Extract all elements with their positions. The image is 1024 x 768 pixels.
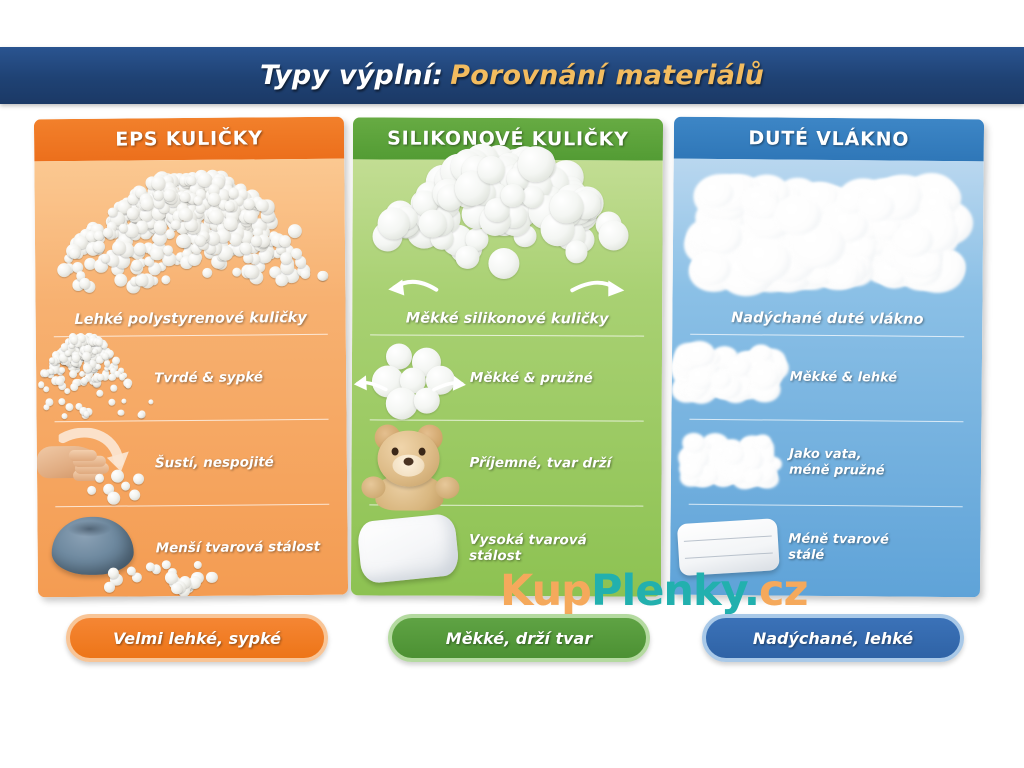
- dute-vlakno-feature-3: Méně tvarové stálé: [670, 505, 981, 592]
- column-dute-vlakno-title: DUTÉ VLÁKNO: [674, 117, 984, 162]
- hand-with-beads-icon: [37, 425, 156, 502]
- dute-vlakno-feature-1: Měkké & lehké: [671, 335, 982, 422]
- summary-pill-dute-vlakno[interactable]: Nadýchané, lehké: [702, 614, 964, 662]
- silikonove-feature-2: Příjemné, tvar drží: [351, 420, 661, 505]
- silikonove-feature-1: Měkké & pružné: [352, 335, 662, 420]
- fibre-cloud-small-icon: [671, 339, 790, 416]
- silikonove-hero-caption: Měkké silikonové kuličky: [352, 310, 662, 327]
- dute-vlakno-feature-2-label: Jako vata, méně pružné: [789, 447, 891, 480]
- beads-small-pile-icon: [36, 340, 155, 417]
- silikonove-feature-3: Vysoká tvarová stálost: [351, 505, 661, 590]
- silikonove-feature-2-label: Příjemné, tvar drží: [470, 455, 618, 472]
- eps-feature-3-label: Menší tvarová stálost: [156, 539, 327, 556]
- header-banner: Typy výplní:Porovnání materiálů: [0, 47, 1024, 104]
- comparison-columns: EPS KULIČKY Lehké polystyrenové kuličky …: [0, 118, 1024, 598]
- eps-feature-3: Menší tvarová stálost: [37, 505, 348, 592]
- column-eps-kulicky: EPS KULIČKY Lehké polystyrenové kuličky …: [34, 117, 348, 598]
- stretch-arrows-icon: [352, 339, 470, 416]
- summary-pills: Velmi lehké, sypké Měkké, drží tvar Nadý…: [0, 614, 1024, 674]
- column-dute-vlakno: DUTÉ VLÁKNO Nadýchané duté vlákno Měkké …: [670, 117, 984, 598]
- page-title-secondary: Porovnání materiálů: [450, 60, 764, 91]
- expand-arrows-icon: [358, 263, 658, 304]
- pompoms-with-arrows-icon: [352, 339, 470, 416]
- pillow-icon: [351, 509, 469, 586]
- cotton-wool-icon: [671, 424, 790, 501]
- hollow-fibre-cloud-icon: [687, 173, 970, 299]
- eps-beads-pile-icon: [56, 183, 325, 303]
- eps-feature-1-label: Tvrdé & sypké: [154, 369, 269, 386]
- eps-feature-2: Šustí, nespojité: [37, 420, 348, 507]
- dute-vlakno-feature-1-label: Měkké & lehké: [790, 370, 903, 387]
- dute-vlakno-feature-3-label: Méně tvarové stálé: [788, 532, 895, 565]
- summary-pill-eps[interactable]: Velmi lehké, sypké: [66, 614, 328, 662]
- eps-hero-caption: Lehké polystyrenové kuličky: [36, 310, 346, 329]
- column-silikonove-kulicky: SILIKONOVÉ KULIČKY Měkké silikonové kuli…: [351, 117, 663, 596]
- infographic-page: Typy výplní:Porovnání materiálů EPS KULI…: [0, 0, 1024, 768]
- dute-vlakno-feature-2: Jako vata, méně pružné: [671, 420, 982, 507]
- dute-vlakno-hero: Nadýchané duté vlákno: [672, 159, 984, 337]
- summary-pill-silikonove[interactable]: Měkké, drží tvar: [388, 614, 650, 662]
- silikonove-hero: Měkké silikonové kuličky: [352, 159, 663, 335]
- silikonove-feature-1-label: Měkké & pružné: [470, 370, 599, 387]
- page-title: Typy výplní:Porovnání materiálů: [260, 60, 764, 91]
- teddy-bear-icon: [351, 424, 469, 501]
- column-eps-title: EPS KULIČKY: [34, 117, 344, 162]
- beanbag-icon: [37, 510, 156, 587]
- dute-vlakno-hero-caption: Nadýchané duté vlákno: [672, 310, 982, 329]
- page-title-primary: Typy výplní:: [260, 60, 443, 91]
- silikonove-feature-3-label: Vysoká tvarová stálost: [469, 532, 619, 565]
- duvet-icon: [670, 509, 789, 586]
- eps-hero: Lehké polystyrenové kuličky: [34, 159, 346, 337]
- eps-feature-2-label: Šustí, nespojité: [155, 454, 280, 471]
- eps-feature-1: Tvrdé & sypké: [36, 335, 347, 422]
